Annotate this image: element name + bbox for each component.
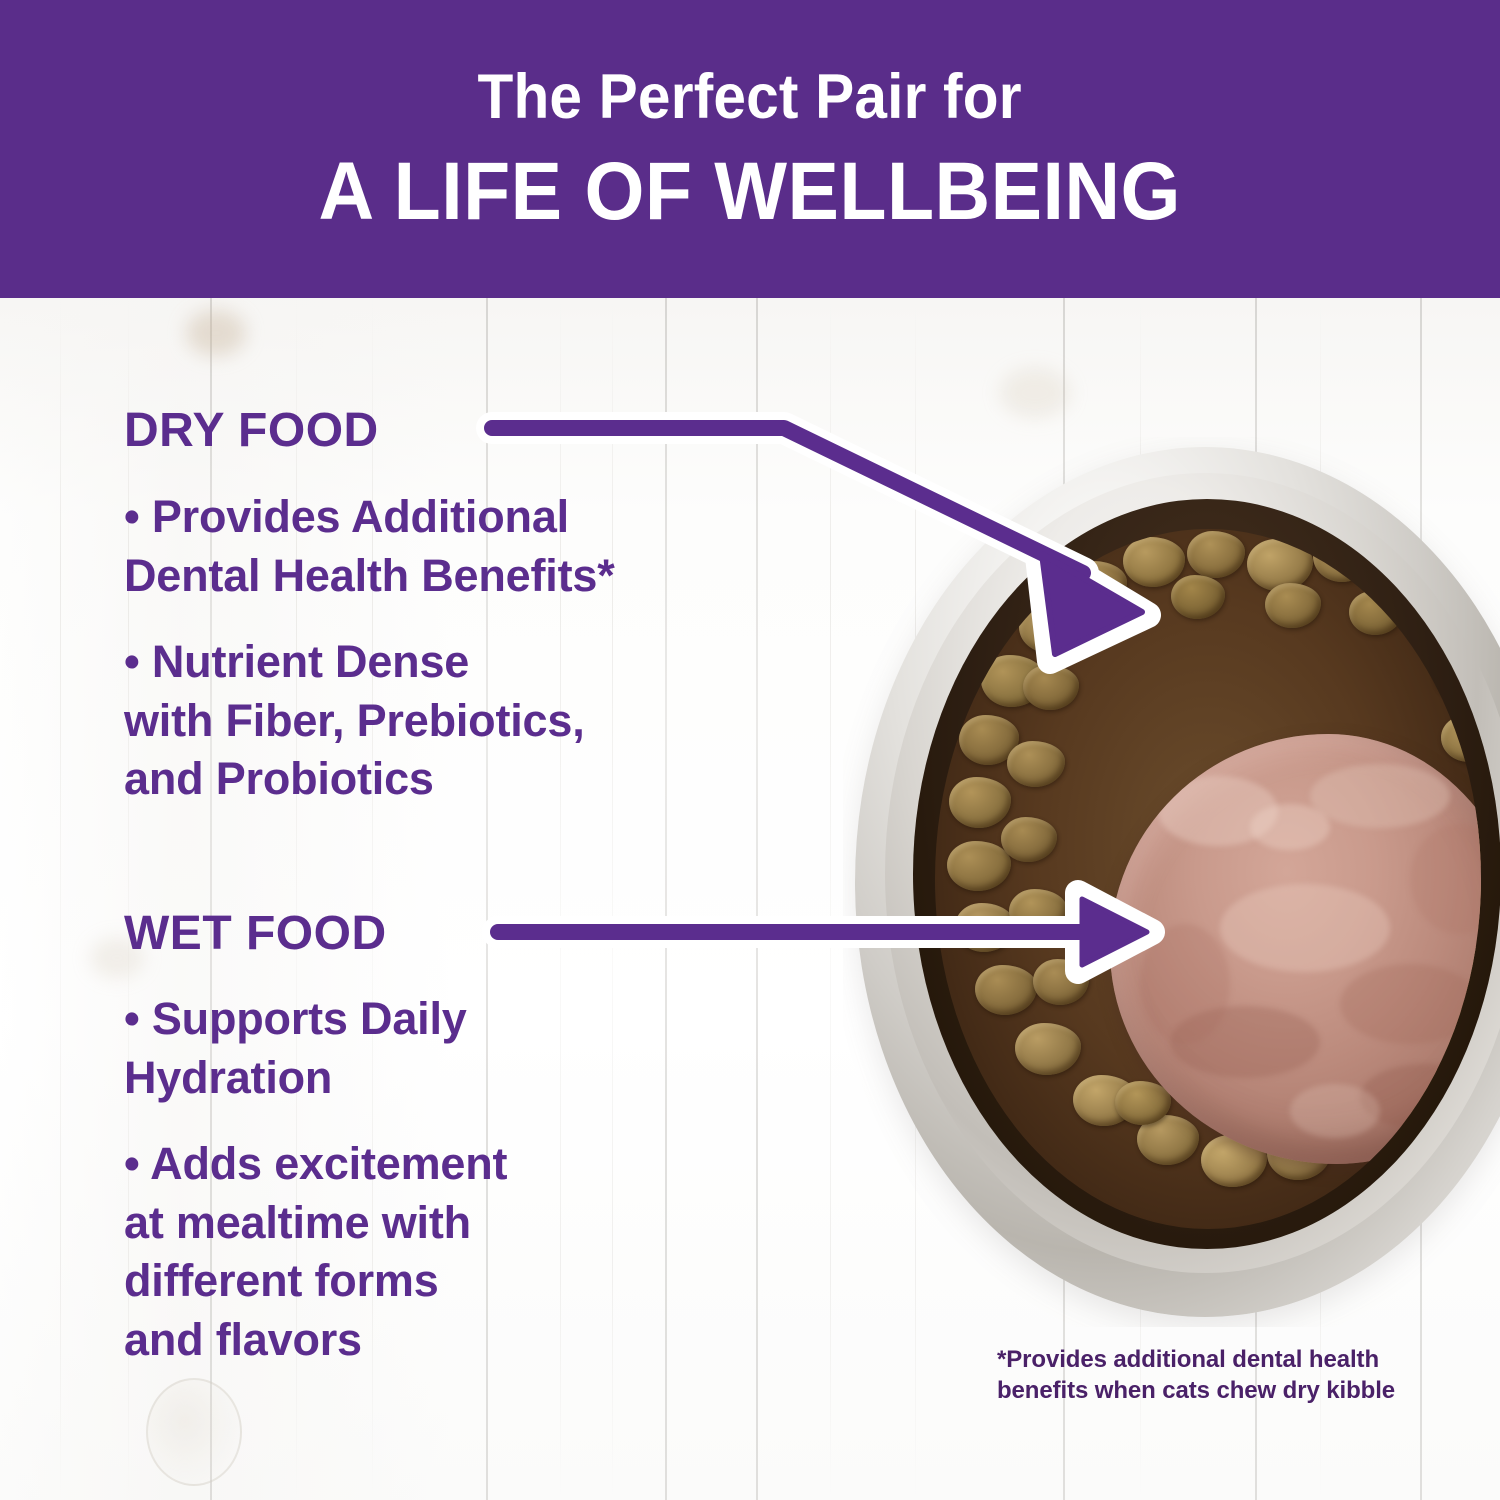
header-banner: The Perfect Pair for A LIFE OF WELLBEING: [0, 0, 1500, 298]
plank-seam: [665, 298, 667, 1500]
bowl-food-area: [935, 529, 1481, 1229]
bullet-line: different forms: [124, 1252, 507, 1311]
bullet-line: with Fiber, Prebiotics,: [124, 692, 585, 751]
section-heading-dry-food: DRY FOOD: [124, 403, 379, 458]
header-title: A LIFE OF WELLBEING: [319, 151, 1181, 233]
bullet-line: at mealtime with: [124, 1194, 507, 1253]
bullet-line: and flavors: [124, 1311, 507, 1370]
wood-smudge: [186, 310, 246, 356]
wood-smudge: [1000, 368, 1070, 418]
wood-grain-line: [612, 298, 613, 1500]
wet-food-bullet-2: • Adds excitement at mealtime with diffe…: [124, 1135, 507, 1369]
bullet-line: Dental Health Benefits*: [124, 547, 615, 606]
section-heading-wet-food: WET FOOD: [124, 906, 387, 961]
footnote-disclaimer: *Provides additional dental health benef…: [997, 1345, 1395, 1406]
dry-food-bullet-2: • Nutrient Dense with Fiber, Prebiotics,…: [124, 633, 585, 809]
footnote-line: benefits when cats chew dry kibble: [997, 1376, 1395, 1407]
bullet-line: • Adds excitement: [124, 1135, 507, 1194]
wood-grain-line: [830, 298, 831, 1500]
plank-seam: [756, 298, 758, 1500]
bullet-line: • Provides Additional: [124, 488, 615, 547]
infographic-page: The Perfect Pair for A LIFE OF WELLBEING: [0, 0, 1500, 1500]
footnote-line: *Provides additional dental health: [997, 1345, 1395, 1376]
bullet-line: Hydration: [124, 1049, 467, 1108]
header-subtitle: The Perfect Pair for: [478, 66, 1022, 129]
wood-grain-line: [560, 298, 561, 1500]
wood-knot: [146, 1378, 242, 1486]
wood-grain-line: [60, 298, 61, 1500]
bullet-line: • Supports Daily: [124, 990, 467, 1049]
dry-food-bullet-1: • Provides Additional Dental Health Bene…: [124, 488, 615, 605]
wet-food-bullet-1: • Supports Daily Hydration: [124, 990, 467, 1107]
cat-food-bowl-photo: [843, 437, 1500, 1327]
bullet-line: • Nutrient Dense: [124, 633, 585, 692]
bullet-line: and Probiotics: [124, 750, 585, 809]
